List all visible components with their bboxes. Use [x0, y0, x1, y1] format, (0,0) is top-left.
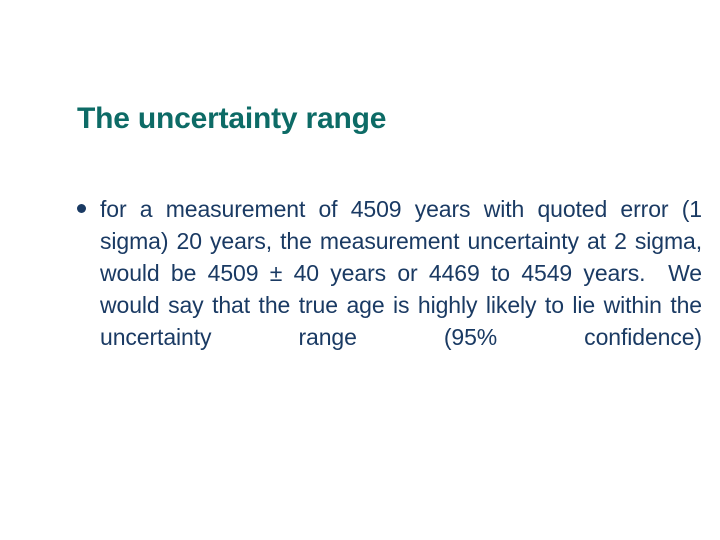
bullet-dot-icon — [77, 204, 86, 213]
slide-canvas: The uncertainty range for a measurement … — [0, 0, 720, 540]
slide-body: for a measurement of 4509 years with quo… — [74, 193, 702, 385]
page-title: The uncertainty range — [77, 101, 386, 137]
list-item: for a measurement of 4509 years with quo… — [74, 193, 702, 385]
list-item-label: for a measurement of 4509 years with quo… — [100, 193, 702, 385]
